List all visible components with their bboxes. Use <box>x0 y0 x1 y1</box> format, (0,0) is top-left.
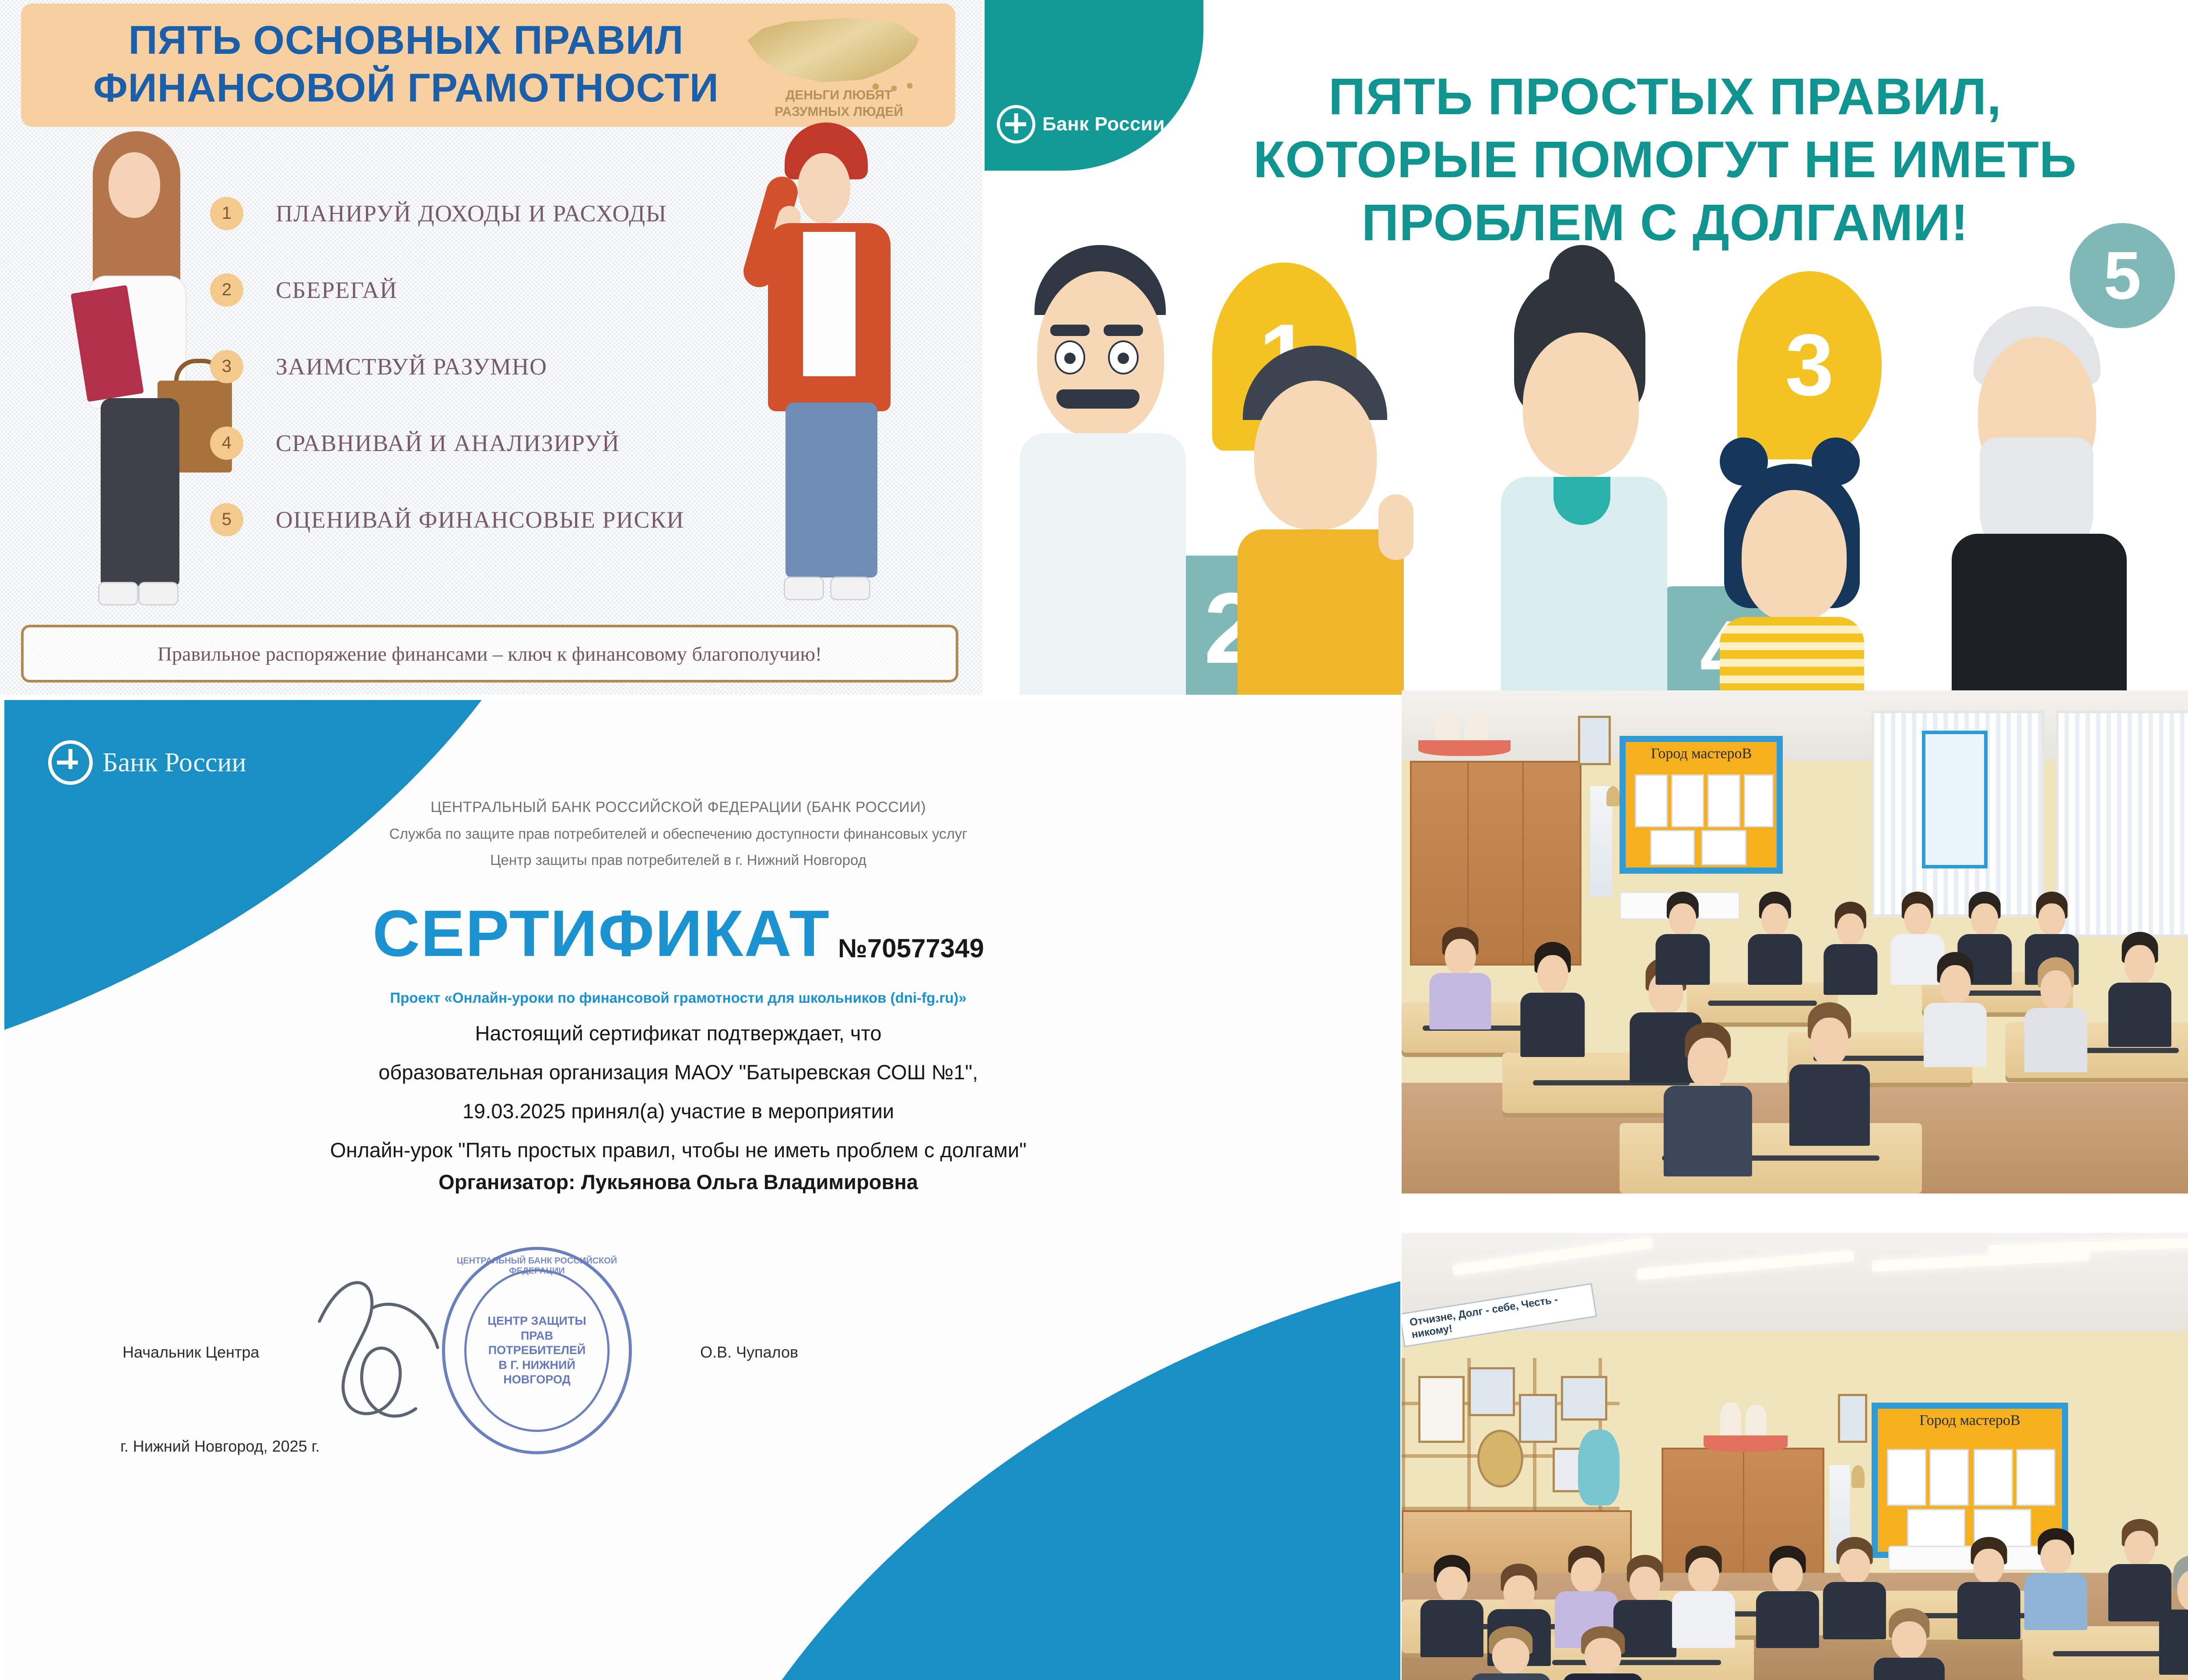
poster-footer-banner: Правильное распоряжение финансами – ключ… <box>21 625 958 682</box>
pupil-head <box>1761 903 1788 936</box>
illustration-girl <box>53 131 236 608</box>
pupil-head <box>2125 945 2156 985</box>
pupil-torso <box>1520 993 1585 1057</box>
pupil-torso <box>1655 934 1709 985</box>
pupil-8 <box>1955 1537 2022 1635</box>
pupil-head <box>1571 1557 1602 1593</box>
certificate-body-line-4: Онлайн-урок "Пять простых правил, чтобы … <box>197 1138 1160 1162</box>
certificate-org-line-2: Служба по защите прав потребителей и обе… <box>197 826 1160 842</box>
rule-item-3: 3 ЗАИМСТВУЙ РАЗУМНО <box>210 328 770 405</box>
pupil-14 <box>1561 1626 1645 1680</box>
pupil-torso <box>2024 1573 2087 1630</box>
school-bell <box>1606 786 1620 806</box>
rule-number-2: 2 <box>210 273 243 307</box>
pupil-1 <box>1427 927 1494 1028</box>
pupil-torso <box>1874 1658 1945 1680</box>
man-eye-right <box>1108 340 1139 374</box>
certificate-org-line-1: ЦЕНТРАЛЬНЫЙ БАНК РОССИЙСКОЙ ФЕДЕРАЦИИ (Б… <box>197 799 1160 816</box>
rule-item-2: 2 СБЕРЕГАЙ <box>210 252 770 328</box>
poster-header-band: ПЯТЬ ОСНОВНЫХ ПРАВИЛ ФИНАНСОВОЙ ГРАМОТНО… <box>21 3 955 127</box>
boy-yellow-hand <box>1378 494 1413 560</box>
pupil-11 <box>2156 1555 2188 1671</box>
ship-sail-1 <box>1435 710 1459 743</box>
man-eye-left <box>1055 340 1085 374</box>
pupil-torso <box>1563 1673 1643 1680</box>
pupil-head <box>1504 1575 1535 1611</box>
certificate-body-line-1: Настоящий сертификат подтверждает, что <box>197 1021 1160 1045</box>
man-mustache <box>1056 389 1140 409</box>
pupil-head <box>1437 1567 1468 1602</box>
pupil-head <box>1837 913 1864 946</box>
pupil-head <box>1892 1621 1926 1660</box>
pupil-head <box>1492 1638 1529 1674</box>
rule-number-4: 4 <box>210 427 243 460</box>
pupil-head <box>2038 903 2065 936</box>
classroom-photo-front: Город мастероВ <box>1402 690 2188 1193</box>
board-card-4 <box>1744 774 1774 827</box>
boy-legs <box>785 402 877 577</box>
pupil-torso <box>1663 1086 1752 1176</box>
pupil-head <box>1585 1638 1621 1674</box>
boy-shoe-right <box>830 577 870 600</box>
ship-hull <box>1704 1435 1788 1452</box>
pupil-head <box>1687 1038 1728 1089</box>
poster-five-simple-rules-debt: Банк России ПЯТЬ ПРОСТЫХ ПРАВИЛ, КОТОРЫЕ… <box>985 0 2188 695</box>
pupil-4 <box>1662 1022 1754 1173</box>
craft-board: Город мастероВ <box>1620 736 1783 874</box>
pupil-head <box>1445 939 1476 975</box>
pupil-torso <box>1470 1673 1551 1680</box>
pupil-13 <box>2023 957 2090 1068</box>
pupil-6 <box>1754 1546 1821 1644</box>
girl-face <box>109 152 160 218</box>
pupil-head <box>2041 1540 2072 1575</box>
rules-list: 1 ПЛАНИРУЙ ДОХОДЫ И РАСХОДЫ 2 СБЕРЕГАЙ 3… <box>210 175 770 558</box>
pupil-head <box>2125 1531 2156 1566</box>
wall-portrait <box>1578 716 1611 766</box>
man-body <box>1020 433 1186 695</box>
classroom-scene-rear: Отчизне, Долг - себе, Честь - никому! Го… <box>1402 1233 2188 1680</box>
ship-sail-2 <box>1746 1405 1767 1438</box>
rule-number-3: 3 <box>210 350 243 383</box>
model-ship <box>1704 1403 1788 1452</box>
girl-shoe-right <box>138 582 179 605</box>
rule-label-1: ПЛАНИРУЙ ДОХОДЫ И РАСХОДЫ <box>276 200 667 227</box>
man-pupil-right <box>1118 353 1129 364</box>
rule-number-1: 1 <box>210 197 243 230</box>
school-bell <box>1851 1465 1865 1487</box>
pupil-7 <box>1746 892 1804 982</box>
wall-icon-portrait <box>1838 1394 1868 1443</box>
certificate-signer-name: О.В. Чупалов <box>700 1343 798 1361</box>
debt-title-line-2: КОТОРЫЕ ПОМОГУТ НЕ ИМЕТЬ <box>1129 129 2188 192</box>
rule-number-5: 5 <box>210 503 243 536</box>
pupil-12 <box>1922 952 1989 1063</box>
woman-head <box>1523 332 1639 477</box>
debt-title-line-1: ПЯТЬ ПРОСТЫХ ПРАВИЛ, <box>1129 66 2188 129</box>
certificate-body-line-3: 19.03.2025 принял(а) участие в мероприят… <box>197 1099 1160 1123</box>
board-card-6 <box>1701 830 1746 865</box>
board-card-1 <box>1887 1449 1926 1506</box>
boy-shirt <box>803 232 856 376</box>
wall-document <box>1418 1376 1465 1443</box>
pupil-head <box>1974 1549 2005 1584</box>
boy-shoe-left <box>784 577 824 600</box>
pupil-torso <box>1924 1003 1987 1067</box>
girl-buns-head <box>1742 490 1847 621</box>
girl-shoe-left <box>98 582 138 605</box>
wall-photo-3 <box>1561 1376 1607 1421</box>
board-card-3 <box>1974 1449 2013 1506</box>
board-card-5 <box>1650 830 1695 865</box>
poster-footer-text: Правильное распоряжение финансами – ключ… <box>158 642 822 665</box>
certificate-title-row: СЕРТИФИКАТ №70577349 <box>197 896 1160 971</box>
pupil-torso <box>1672 1591 1735 1648</box>
pupil-5 <box>1788 1002 1872 1143</box>
pupil-head <box>1669 903 1696 936</box>
certificate-organizer: Организатор: Лукьянова Ольга Владимировн… <box>197 1170 1160 1194</box>
pupil-torso <box>1430 973 1491 1029</box>
pupil-6 <box>1653 892 1712 982</box>
character-elderly-man <box>1943 306 2135 695</box>
certificate-signer-title: Начальник Центра <box>123 1343 259 1361</box>
poster-title-line-2: ФИНАНСОВОЙ ГРАМОТНОСТИ <box>47 64 765 112</box>
pupil-head <box>1904 903 1931 936</box>
bank-of-russia-mark-icon <box>48 740 93 785</box>
cornucopia-icon: ДЕНЬГИ ЛЮБЯТ РАЗУМНЫХ ЛЮДЕЙ <box>741 11 929 121</box>
board-card-1 <box>1635 774 1668 827</box>
bank-of-russia-mark-icon <box>997 105 1035 143</box>
pupil-head <box>1839 1549 1870 1584</box>
pupil-14 <box>2106 932 2173 1043</box>
man-pupil-left <box>1064 353 1076 364</box>
pupil-8 <box>1821 902 1880 992</box>
pupil-torso <box>2108 983 2171 1047</box>
ship-sail-1 <box>1720 1403 1741 1438</box>
debt-poster-title: ПЯТЬ ПРОСТЫХ ПРАВИЛ, КОТОРЫЕ ПОМОГУТ НЕ … <box>1129 66 2188 255</box>
certificate-org-line-3: Центр защиты прав потребителей в г. Нижн… <box>197 852 1160 868</box>
pupil-torso <box>1756 1591 1819 1648</box>
certificate-title: СЕРТИФИКАТ <box>372 896 830 971</box>
certificate-project-line: Проект «Онлайн-уроки по финансовой грамо… <box>197 990 1160 1006</box>
pupil-head <box>1940 965 1971 1005</box>
cornucopia-caption: ДЕНЬГИ ЛЮБЯТ РАЗУМНЫХ ЛЮДЕЙ <box>760 87 918 120</box>
ship-sail-2 <box>1465 712 1489 743</box>
pupil-torso <box>2024 1008 2087 1072</box>
pupil-12 <box>1872 1608 1947 1680</box>
rule-item-5: 5 ОЦЕНИВАЙ ФИНАНСОВЫЕ РИСКИ <box>210 481 770 558</box>
craft-board-title: Город мастероВ <box>1878 1412 2062 1429</box>
debt-title-line-3: ПРОБЛЕМ С ДОЛГАМИ! <box>1129 192 2188 255</box>
character-boy-yellow <box>1230 346 1418 695</box>
rule-label-3: ЗАИМСТВУЙ РАЗУМНО <box>276 353 547 380</box>
board-card-3 <box>1708 774 1740 827</box>
elder-body <box>1952 534 2127 695</box>
board-card-2 <box>1671 774 1704 827</box>
rule-item-4: 4 СРАВНИВАЙ И АНАЛИЗИРУЙ <box>210 405 770 481</box>
wall-photo-1 <box>1469 1367 1515 1416</box>
rule-label-5: ОЦЕНИВАЙ ФИНАНСОВЫЕ РИСКИ <box>276 506 684 533</box>
man-brow-right <box>1104 325 1143 336</box>
rule-label-2: СБЕРЕГАЙ <box>276 276 397 304</box>
pupil-torso <box>1789 1064 1870 1146</box>
pupil-head <box>1811 1018 1848 1067</box>
wall-photo-2 <box>1519 1394 1557 1443</box>
cornucopia-caption-line-2: РАЗУМНЫХ ЛЮДЕЙ <box>760 104 918 120</box>
girl-buns-body <box>1720 617 1864 695</box>
pupil-head <box>1772 1557 1803 1593</box>
model-ship <box>1418 710 1511 756</box>
craft-board-title: Город мастероВ <box>1626 745 1777 762</box>
pupil-head <box>1537 955 1568 995</box>
pupil-head <box>1630 1567 1661 1602</box>
certificate-number: №70577349 <box>838 933 984 971</box>
pupil-head <box>2041 970 2072 1010</box>
pupil-head <box>1688 1557 1719 1593</box>
pupil-torso <box>1748 934 1802 985</box>
poster-five-rules-financial-literacy: ПЯТЬ ОСНОВНЫХ ПРАВИЛ ФИНАНСОВОЙ ГРАМОТНО… <box>0 0 982 695</box>
girl-legs <box>101 398 179 586</box>
man-brow-left <box>1050 325 1090 336</box>
pupil-13 <box>1469 1626 1553 1680</box>
fish-decoration <box>1578 1430 1620 1506</box>
certificate-body: ЦЕНТРАЛЬНЫЙ БАНК РОССИЙСКОЙ ФЕДЕРАЦИИ (Б… <box>197 700 1160 1194</box>
poster-title-line-1: ПЯТЬ ОСНОВНЫХ ПРАВИЛ <box>47 17 765 64</box>
certificate-body-line-2: образовательная организация МАОУ "Батыре… <box>197 1060 1160 1084</box>
ship-hull <box>1418 740 1511 756</box>
pupil-head <box>1971 903 1998 936</box>
boy-yellow-head <box>1254 381 1377 529</box>
ships-wheel-decoration <box>1477 1430 1524 1488</box>
boy-yellow-body <box>1238 529 1404 695</box>
boy-face <box>798 153 850 223</box>
certificate-city-date: г. Нижний Новгород, 2025 г. <box>120 1437 320 1456</box>
pupil-2 <box>1519 942 1586 1053</box>
pupil-9 <box>2023 1528 2090 1627</box>
cornucopia-caption-line-1: ДЕНЬГИ ЛЮБЯТ <box>760 87 918 104</box>
certificate-document: Банк России ЦЕНТРАЛЬНЫЙ БАНК РОССИЙСКОЙ … <box>4 700 1400 1680</box>
speech-bubble-3: 3 <box>1737 271 1882 459</box>
rule-label-4: СРАВНИВАЙ И АНАЛИЗИРУЙ <box>276 430 620 457</box>
pupil-torso <box>1957 1582 2020 1639</box>
board-card-2 <box>1929 1449 1969 1506</box>
character-girl-with-buns <box>1702 437 1886 695</box>
cabinet-divider-2 <box>1522 763 1524 964</box>
rule-item-1: 1 ПЛАНИРУЙ ДОХОДЫ И РАСХОДЫ <box>210 175 770 252</box>
official-stamp: ЦЕНТРАЛЬНЫЙ БАНК РОССИЙСКОЙ ФЕДЕРАЦИИ ЦЕ… <box>442 1247 632 1454</box>
poster-title: ПЯТЬ ОСНОВНЫХ ПРАВИЛ ФИНАНСОВОЙ ГРАМОТНО… <box>47 17 765 112</box>
classroom-photo-rear: Отчизне, Долг - себе, Честь - никому! Го… <box>1402 1233 2188 1680</box>
stamp-inner-text: ЦЕНТР ЗАЩИТЫ ПРАВ ПОТРЕБИТЕЛЕЙ В Г. НИЖН… <box>487 1314 587 1387</box>
character-woman-teacher <box>1488 271 1680 695</box>
pupil-5 <box>1670 1546 1737 1644</box>
stamp-outer-text: ЦЕНТРАЛЬНЫЙ БАНК РОССИЙСКОЙ ФЕДЕРАЦИИ <box>445 1256 629 1276</box>
classroom-scene-front: Город мастероВ <box>1402 690 2188 1193</box>
board-card-4 <box>2016 1449 2055 1506</box>
wall-poster-right <box>1922 731 1988 868</box>
character-man-with-mustache <box>1011 245 1199 695</box>
pupil-torso <box>2159 1610 2188 1675</box>
pupil-torso <box>1823 944 1877 995</box>
